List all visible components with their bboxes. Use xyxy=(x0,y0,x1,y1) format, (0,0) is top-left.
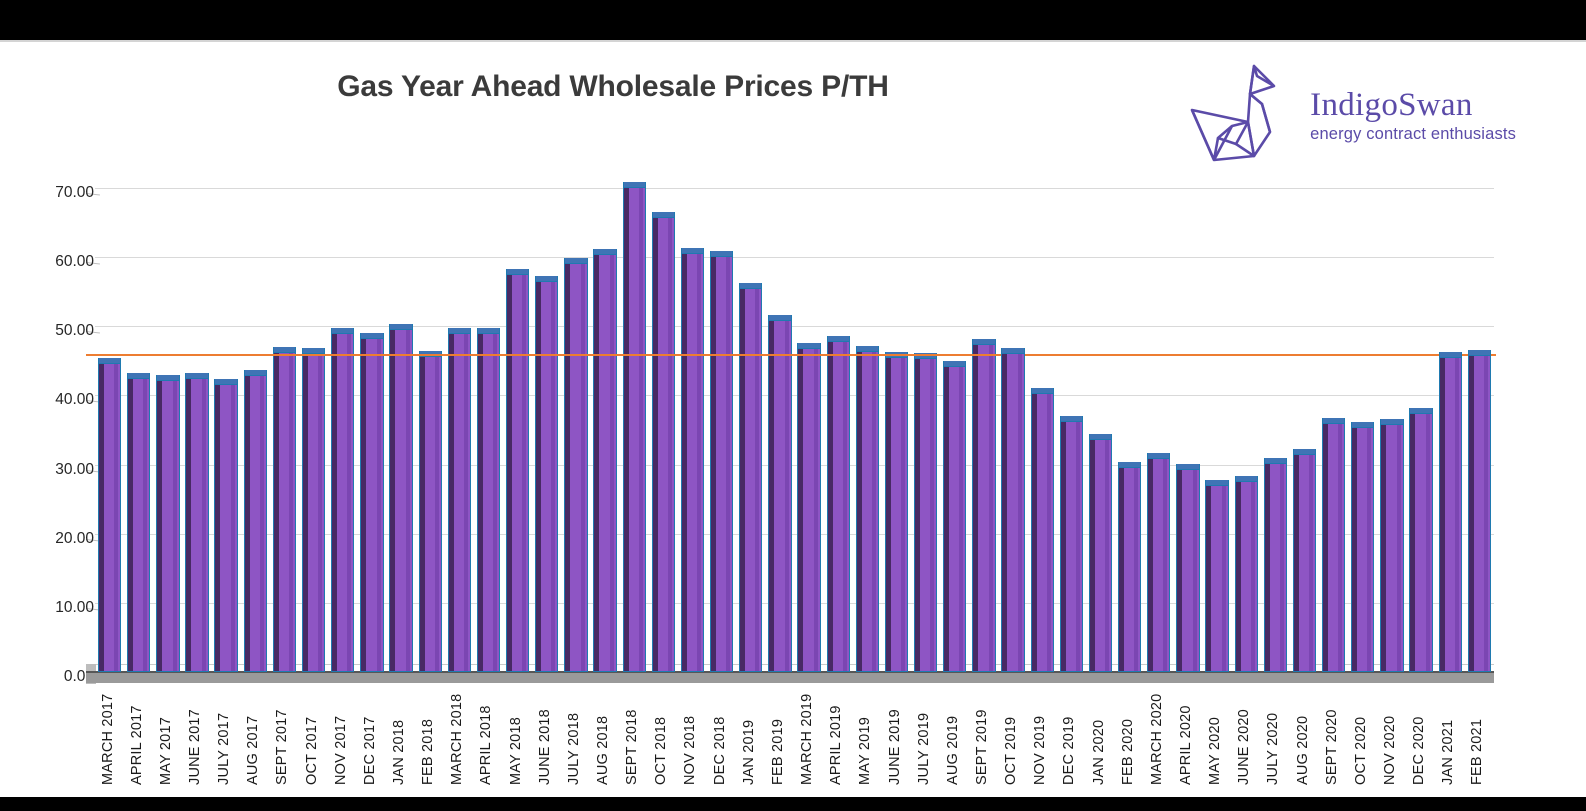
x-axis-label: AUG 2019 xyxy=(945,716,961,785)
bar-march-2020 xyxy=(1147,458,1170,672)
x-axis-label: NOV 2017 xyxy=(333,716,349,785)
bar-face xyxy=(681,253,704,672)
bar-face xyxy=(593,254,616,672)
bar-face xyxy=(1351,427,1374,672)
average-reference-line xyxy=(86,354,1496,356)
bar-april-2018 xyxy=(477,333,500,672)
x-axis-label: SEPT 2018 xyxy=(624,709,640,785)
x-axis-label: OCT 2019 xyxy=(1003,717,1019,785)
bar-march-2017 xyxy=(98,363,121,672)
bar-face xyxy=(302,353,325,672)
bar-aug-2017 xyxy=(244,375,267,672)
bar-may-2020 xyxy=(1205,485,1228,672)
bar-may-2018 xyxy=(506,274,529,672)
bar-face xyxy=(360,338,383,672)
bar-oct-2020 xyxy=(1351,427,1374,672)
x-axis-label: NOV 2019 xyxy=(1032,716,1048,785)
x-axis-label: JULY 2020 xyxy=(1265,713,1281,785)
bar-april-2019 xyxy=(827,341,850,672)
x-axis-label: MAY 2018 xyxy=(508,717,524,785)
bar-face xyxy=(506,274,529,672)
chart-card: Gas Year Ahead Wholesale Prices P/TH xyxy=(0,40,1586,797)
x-axis-label: MARCH 2017 xyxy=(100,694,116,785)
bar-face xyxy=(885,357,908,672)
bar-june-2019 xyxy=(885,357,908,672)
x-axis-label: JAN 2019 xyxy=(741,720,757,785)
x-axis-label: FEB 2019 xyxy=(770,719,786,785)
bar-face xyxy=(1293,454,1316,672)
bar-feb-2020 xyxy=(1118,467,1141,672)
bar-face xyxy=(739,288,762,672)
x-axis-label: OCT 2018 xyxy=(653,717,669,785)
bar-dec-2019 xyxy=(1060,421,1083,672)
bars-layer xyxy=(0,42,1586,797)
bar-june-2020 xyxy=(1235,481,1258,672)
x-axis-label: JUNE 2018 xyxy=(537,709,553,785)
bar-jan-2021 xyxy=(1439,357,1462,672)
bar-april-2020 xyxy=(1176,469,1199,672)
x-axis-label: APRIL 2019 xyxy=(828,705,844,785)
bar-face xyxy=(1118,467,1141,672)
bar-face xyxy=(914,358,937,672)
bar-face xyxy=(1322,423,1345,672)
bar-march-2019 xyxy=(797,348,820,672)
bar-face xyxy=(710,256,733,672)
x-axis-label: NOV 2018 xyxy=(682,716,698,785)
x-axis-label: JAN 2021 xyxy=(1440,720,1456,785)
bar-july-2019 xyxy=(914,358,937,672)
bar-face xyxy=(535,281,558,672)
bar-face xyxy=(389,329,412,672)
bar-face xyxy=(214,384,237,672)
bar-april-2017 xyxy=(127,378,150,672)
x-axis-label: JULY 2017 xyxy=(216,713,232,785)
bar-face xyxy=(1089,439,1112,672)
bar-nov-2017 xyxy=(331,333,354,672)
bar-feb-2019 xyxy=(768,320,791,672)
x-axis-label: AUG 2018 xyxy=(595,716,611,785)
bar-face xyxy=(768,320,791,672)
bar-nov-2020 xyxy=(1380,424,1403,672)
x-axis-label: APRIL 2018 xyxy=(478,705,494,785)
x-axis-label: JUNE 2019 xyxy=(887,709,903,785)
bar-face xyxy=(448,333,471,672)
bar-aug-2018 xyxy=(593,254,616,672)
x-axis-label: JUNE 2020 xyxy=(1236,709,1252,785)
bar-face xyxy=(1205,485,1228,672)
bar-jan-2018 xyxy=(389,329,412,672)
bar-face xyxy=(156,380,179,672)
bar-face xyxy=(652,217,675,672)
bar-face xyxy=(827,341,850,672)
bar-jan-2019 xyxy=(739,288,762,672)
bar-face xyxy=(1001,353,1024,672)
bar-dec-2017 xyxy=(360,338,383,672)
x-axis-label: JULY 2018 xyxy=(566,713,582,785)
bar-jan-2020 xyxy=(1089,439,1112,672)
bar-nov-2019 xyxy=(1031,393,1054,672)
bar-sept-2019 xyxy=(972,344,995,672)
bar-oct-2018 xyxy=(652,217,675,672)
bar-sept-2018 xyxy=(623,187,646,672)
x-axis-label: SEPT 2017 xyxy=(274,709,290,785)
bar-face xyxy=(943,366,966,672)
x-axis-label: FEB 2018 xyxy=(420,719,436,785)
bar-july-2020 xyxy=(1264,463,1287,672)
bar-face xyxy=(1468,355,1491,672)
bar-face xyxy=(1439,357,1462,672)
bar-nov-2018 xyxy=(681,253,704,672)
bar-sept-2020 xyxy=(1322,423,1345,672)
x-axis-label: MARCH 2019 xyxy=(799,694,815,785)
x-axis-label: MARCH 2018 xyxy=(449,694,465,785)
x-axis-label: DEC 2019 xyxy=(1061,717,1077,786)
bar-face xyxy=(623,187,646,672)
bar-face xyxy=(797,348,820,672)
bar-face xyxy=(1060,421,1083,672)
x-axis-label: JAN 2018 xyxy=(391,720,407,785)
bar-may-2017 xyxy=(156,380,179,672)
x-axis-label: FEB 2021 xyxy=(1469,719,1485,785)
bar-feb-2018 xyxy=(419,356,442,672)
x-axis-label: SEPT 2019 xyxy=(974,709,990,785)
x-axis-label: APRIL 2017 xyxy=(129,705,145,785)
bar-face xyxy=(1235,481,1258,672)
bar-face xyxy=(273,352,296,672)
x-axis-label: DEC 2017 xyxy=(362,717,378,786)
x-axis-label: FEB 2020 xyxy=(1120,719,1136,785)
bar-aug-2019 xyxy=(943,366,966,672)
bar-face xyxy=(1147,458,1170,672)
bar-june-2017 xyxy=(185,378,208,672)
bar-may-2019 xyxy=(856,351,879,673)
bar-oct-2019 xyxy=(1001,353,1024,672)
bar-face xyxy=(419,356,442,672)
bar-dec-2020 xyxy=(1409,413,1432,672)
bar-oct-2017 xyxy=(302,353,325,672)
bar-face xyxy=(564,263,587,672)
bar-june-2018 xyxy=(535,281,558,672)
bar-face xyxy=(856,351,879,673)
x-axis-label: AUG 2017 xyxy=(245,716,261,785)
bar-face xyxy=(1031,393,1054,672)
x-axis-label: MAY 2020 xyxy=(1207,717,1223,785)
x-axis-label: DEC 2018 xyxy=(712,717,728,786)
x-axis-label: SEPT 2020 xyxy=(1324,709,1340,785)
screenshot-root: Gas Year Ahead Wholesale Prices P/TH xyxy=(0,0,1586,811)
x-axis-label: MARCH 2020 xyxy=(1149,694,1165,785)
bar-july-2017 xyxy=(214,384,237,672)
bar-face xyxy=(1264,463,1287,672)
bar-face xyxy=(331,333,354,672)
bar-march-2018 xyxy=(448,333,471,672)
x-axis-label: OCT 2017 xyxy=(304,717,320,785)
bar-face xyxy=(98,363,121,672)
letterbox-bottom-bar xyxy=(0,797,1586,811)
x-axis-label: MAY 2019 xyxy=(857,717,873,785)
bar-face xyxy=(972,344,995,672)
bar-face xyxy=(477,333,500,672)
plot-area: 0.0010.0020.0030.0040.0050.0060.0070.00 … xyxy=(0,42,1586,797)
bar-face xyxy=(244,375,267,672)
bar-face xyxy=(1176,469,1199,672)
x-axis-label: DEC 2020 xyxy=(1411,717,1427,786)
x-axis-label: OCT 2020 xyxy=(1353,717,1369,785)
x-axis-label: JULY 2019 xyxy=(916,713,932,785)
bar-aug-2020 xyxy=(1293,454,1316,672)
bar-face xyxy=(185,378,208,672)
x-axis-label: JAN 2020 xyxy=(1091,720,1107,785)
bar-face xyxy=(1409,413,1432,672)
x-axis-label: APRIL 2020 xyxy=(1178,705,1194,785)
bar-face xyxy=(127,378,150,672)
x-axis-label: AUG 2020 xyxy=(1295,716,1311,785)
x-axis-label: JUNE 2017 xyxy=(187,709,203,785)
x-axis-label: MAY 2017 xyxy=(158,717,174,785)
bar-july-2018 xyxy=(564,263,587,672)
x-axis-label: NOV 2020 xyxy=(1382,716,1398,785)
bar-sept-2017 xyxy=(273,352,296,672)
bar-face xyxy=(1380,424,1403,672)
letterbox-top-bar xyxy=(0,0,1586,40)
bar-dec-2018 xyxy=(710,256,733,672)
bar-feb-2021 xyxy=(1468,355,1491,672)
